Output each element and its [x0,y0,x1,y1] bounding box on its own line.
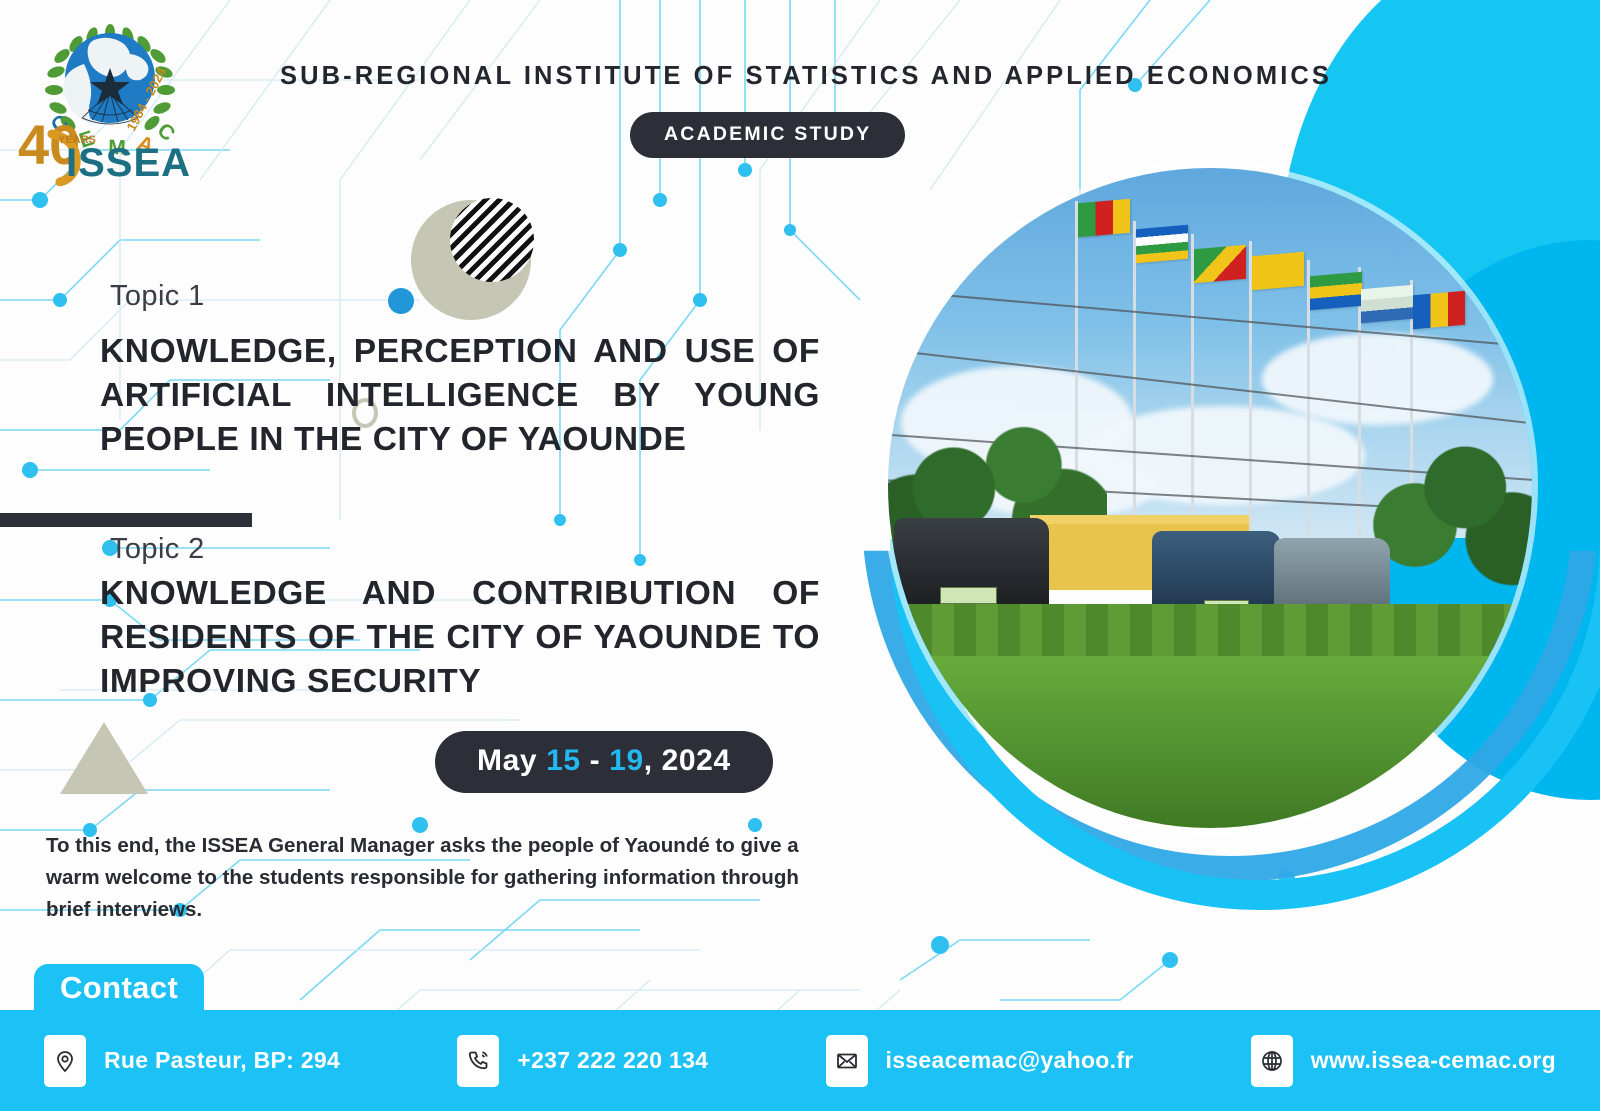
photo-flag-chad [1413,291,1465,330]
status-badge: ACADEMIC STUDY [630,112,905,158]
envelope-icon [826,1035,868,1087]
topic-2-label: Topic 2 [110,533,205,566]
photo-flag-congo [1194,245,1246,284]
topic-2-title: KNOWLEDGE AND CONTRIBUTION OF RESIDENTS … [100,572,820,705]
photo-flag-car [1136,225,1188,264]
contact-address-text: Rue Pasteur, BP: 294 [104,1047,340,1074]
page-title: SUB-REGIONAL INSTITUTE OF STATISTICS AND… [280,62,1370,90]
contact-item-address[interactable]: Rue Pasteur, BP: 294 [44,1035,340,1087]
poster-root: C E M A C 40 YEARS 1984 - 2024 ISSEA SUB… [0,0,1600,1111]
date-separator: - [581,744,609,777]
contact-phone-text: +237 222 220 134 [517,1047,708,1074]
photo-flag-yellow [1252,252,1304,291]
globe-icon [1251,1035,1293,1087]
event-date-badge: May 15 - 19, 2024 [435,731,773,793]
beige-triangle-decoration [60,722,148,794]
blue-dot-decoration [388,288,414,314]
date-start-day: 15 [546,744,581,777]
date-year: , 2024 [644,744,731,777]
contact-item-phone[interactable]: +237 222 220 134 [457,1035,708,1087]
photo-license-plate [940,587,998,604]
photo-flag-cameroon [1078,199,1130,238]
contact-tab: Contact [34,964,204,1010]
phone-icon [457,1035,499,1087]
beige-circle-decoration [411,200,531,320]
topic-1-label: Topic 1 [110,280,205,313]
contact-footer: Rue Pasteur, BP: 294 +237 222 220 134 [0,1010,1600,1111]
photo-flagpole [1133,221,1136,551]
contact-website-text: www.issea-cemac.org [1311,1047,1556,1074]
topic-1-title: KNOWLEDGE, PERCEPTION AND USE OF ARTIFIC… [100,330,820,463]
photo-illustration [888,168,1532,828]
body-paragraph: To this end, the ISSEA General Manager a… [46,830,816,925]
date-end-day: 19 [609,744,644,777]
photo-flag-gabon [1310,271,1362,310]
topic-divider [0,513,252,527]
contact-item-email[interactable]: isseacemac@yahoo.fr [826,1035,1134,1087]
contact-email-text: isseacemac@yahoo.fr [886,1047,1134,1074]
cemac-issea-logo: C E M A C 40 YEARS 1984 - 2024 ISSEA [10,6,210,186]
photo-grass [888,656,1532,828]
striped-circle-decoration [450,198,534,282]
logo-issea-wordmark: ISSEA [66,141,191,185]
photo-cloud [1262,333,1494,425]
event-photo [888,168,1532,828]
contact-item-website[interactable]: www.issea-cemac.org [1251,1035,1556,1087]
date-month: May [477,744,537,777]
photo-flag-eq-guinea [1361,285,1413,324]
location-pin-icon [44,1035,86,1087]
